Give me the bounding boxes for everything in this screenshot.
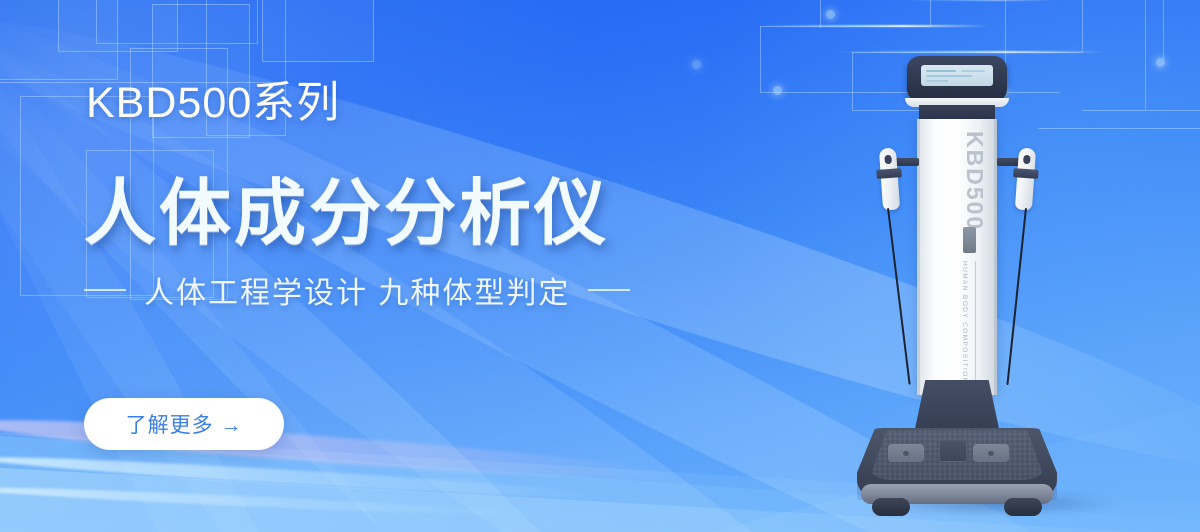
foot-contact [903, 451, 909, 456]
screen-line [926, 80, 948, 82]
electrode-arm-left [895, 158, 919, 166]
base-leg-right [1004, 498, 1042, 516]
screen-line [926, 75, 972, 77]
learn-more-button[interactable]: 了解更多 → [84, 398, 284, 450]
circuit-trace [760, 26, 930, 27]
electrode-contact [1023, 155, 1031, 164]
circuit-node [1156, 58, 1165, 67]
circuit-node [773, 86, 782, 95]
hero-banner: KBD500系列 人体成分分析仪 人体工程学设计 九种体型判定 了解更多 → [0, 0, 1200, 532]
electrode-band [1013, 168, 1039, 179]
device-brand-label: KBD500 [961, 131, 988, 231]
device-rule [975, 261, 976, 381]
screen-line [926, 70, 956, 72]
screen-line [961, 70, 985, 72]
page-title: 人体成分分析仪 [84, 178, 609, 250]
dash-left-icon [84, 289, 126, 291]
foot-contact [988, 451, 994, 456]
circuit-node [826, 10, 835, 19]
subtitle-row: 人体工程学设计 九种体型判定 [84, 268, 630, 312]
eyebrow-text: KBD500系列 [86, 68, 340, 130]
device-screen [921, 65, 993, 86]
electrode-contact [884, 155, 892, 164]
circuit-trace [1145, 0, 1146, 110]
device-column: KBD500 HUMAN BODY COMPOSITION ANALYZER [917, 119, 997, 395]
foot-electrode-right [973, 444, 1009, 462]
glow-streak [905, 0, 1055, 1]
learn-more-label: 了解更多 → [126, 409, 243, 439]
circuit-trace [760, 26, 761, 92]
base-leg-left [872, 498, 910, 516]
hand-electrode-left [879, 147, 900, 210]
hand-electrode-right [1015, 147, 1036, 210]
foot-electrode-left [888, 444, 924, 462]
glow-streak [760, 25, 990, 27]
cable-left [887, 208, 911, 385]
banner-content: KBD500系列 人体成分分析仪 人体工程学设计 九种体型判定 了解更多 → [84, 0, 724, 532]
dash-right-icon [588, 289, 630, 291]
base-center-panel [939, 440, 967, 462]
cable-right [1006, 208, 1027, 385]
subtitle-text: 人体工程学设计 九种体型判定 [144, 268, 570, 312]
circuit-trace [1163, 0, 1164, 60]
device-badge [963, 227, 976, 253]
product-image-body-composition-analyzer: KBD500 HUMAN BODY COMPOSITION ANALYZER [845, 40, 1145, 520]
circuit-trace [930, 0, 931, 26]
device-display-head [907, 56, 1007, 102]
electrode-band [876, 168, 902, 179]
circuit-trace [820, 0, 821, 28]
